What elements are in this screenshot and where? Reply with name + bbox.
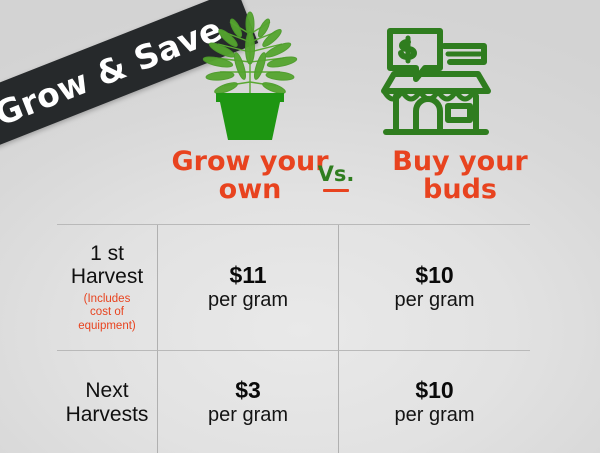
table-row: 1 st Harvest (Includes cost of equipment… — [57, 225, 157, 350]
grow-headline-line2: own — [219, 174, 282, 205]
price-comparison-table: 1 st Harvest (Includes cost of equipment… — [57, 224, 530, 453]
table-row: Next Harvests — [57, 350, 157, 453]
versus-underline — [323, 189, 349, 192]
cannabis-plant-in-pot-icon — [196, 8, 304, 142]
row2-label-line1: Next — [85, 379, 128, 402]
dispensary-storefront-icon — [372, 16, 500, 144]
row1-grow-unit: per gram — [208, 289, 288, 312]
row2-grow-unit: per gram — [208, 404, 288, 427]
row2-buy-unit: per gram — [394, 404, 474, 427]
versus-label: Vs. — [305, 164, 367, 185]
row2-buy-price: $10 — [415, 378, 453, 403]
row-label-next-harvests: Next Harvests — [66, 379, 149, 426]
cell-grow-first-harvest: $11 per gram — [157, 225, 338, 350]
infographic-canvas: Grow & Save — [0, 0, 600, 453]
row-label-first-harvest: 1 st Harvest — [71, 242, 143, 289]
versus-divider: Vs. — [305, 164, 367, 192]
row2-label-line2: Harvests — [66, 403, 149, 426]
row1-buy-price: $10 — [415, 263, 453, 288]
buy-your-buds-headline: Buy your buds — [360, 148, 560, 204]
row2-grow-price: $3 — [235, 378, 261, 403]
row1-buy-unit: per gram — [394, 289, 474, 312]
banner-label: Grow & Save — [0, 9, 227, 133]
row1-label-line2: Harvest — [71, 265, 143, 288]
buy-headline-line1: Buy your — [392, 146, 528, 177]
cell-buy-next-harvests: $10 per gram — [338, 350, 530, 453]
cell-grow-next-harvests: $3 per gram — [157, 350, 338, 453]
row1-grow-price: $11 — [229, 263, 266, 288]
cell-buy-first-harvest: $10 per gram — [338, 225, 530, 350]
row-note-equipment-cost: (Includes cost of equipment) — [78, 293, 136, 334]
buy-headline-line2: buds — [423, 174, 497, 205]
row1-note-line2: cost of — [90, 306, 124, 318]
row1-note-line3: equipment) — [78, 320, 136, 332]
row1-label-line1: 1 st — [90, 242, 124, 265]
row1-note-line1: (Includes — [84, 293, 131, 305]
